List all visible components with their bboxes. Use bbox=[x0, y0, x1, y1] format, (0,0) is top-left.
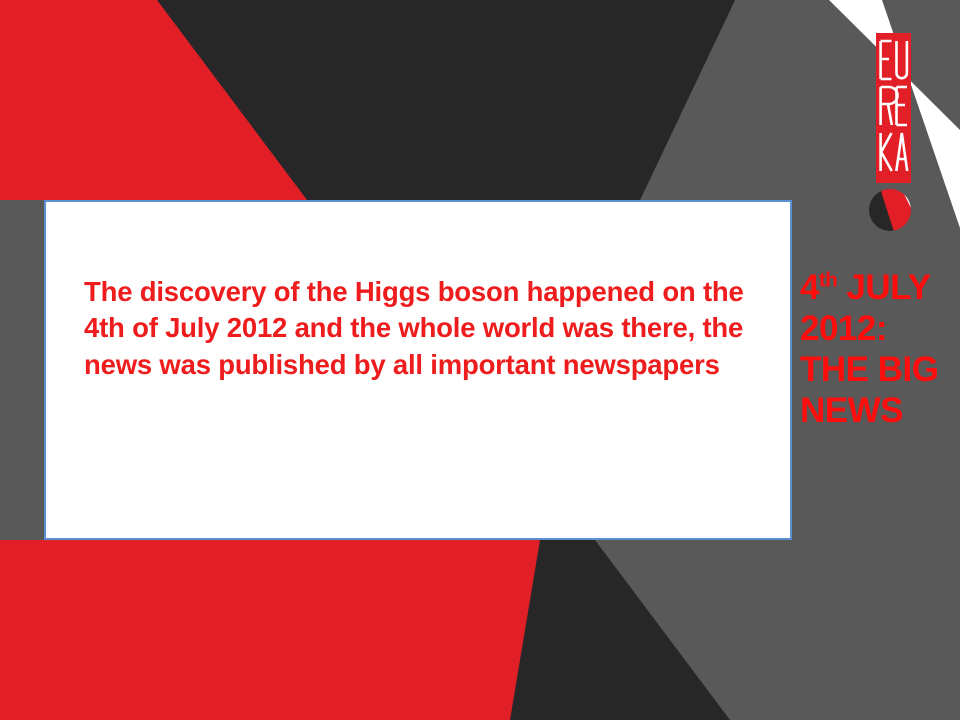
side-title-ordinal: th bbox=[819, 269, 837, 291]
side-title-number: 4 bbox=[800, 268, 819, 307]
logo-dot-icon bbox=[868, 188, 912, 232]
side-title: 4th JULY 2012: THE BIG NEWS bbox=[800, 268, 952, 432]
body-text: The discovery of the Higgs boson happene… bbox=[84, 274, 764, 383]
content-box: The discovery of the Higgs boson happene… bbox=[44, 200, 792, 540]
side-title-rest: JULY 2012: THE BIG NEWS bbox=[800, 268, 938, 430]
eureka-logo-mark bbox=[876, 33, 911, 183]
slide: The discovery of the Higgs boson happene… bbox=[0, 0, 960, 720]
background-red-bottom bbox=[0, 540, 560, 720]
eureka-logo bbox=[876, 33, 911, 183]
